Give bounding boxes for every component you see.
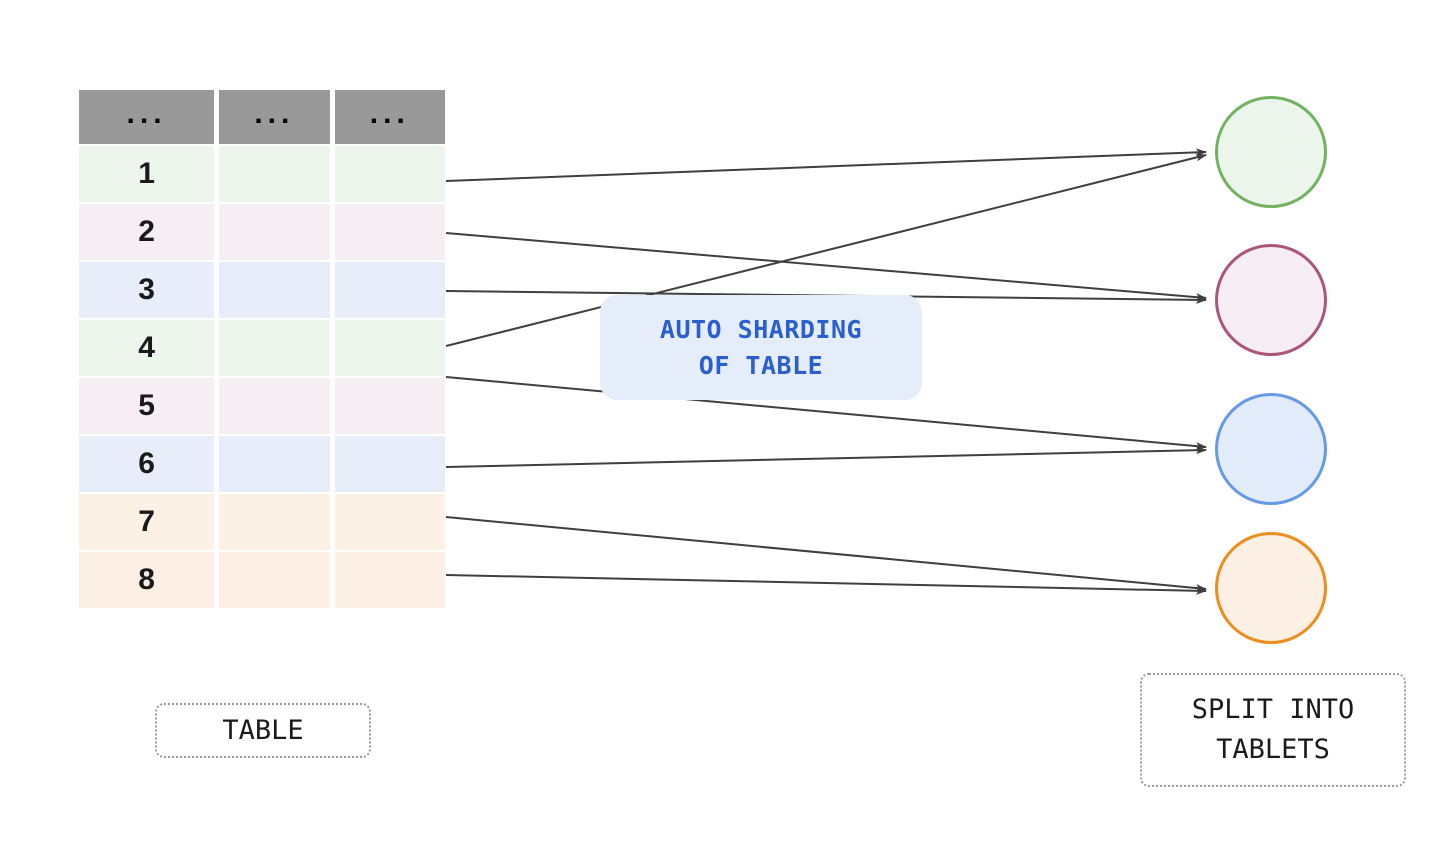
table-cell — [335, 378, 445, 434]
table-cell-row-number: 6 — [79, 436, 214, 492]
table-row: 1 — [79, 146, 445, 202]
table-grid: ... ... ... 12345678 — [79, 90, 445, 608]
table-row: 7 — [79, 494, 445, 550]
table-cell — [335, 436, 445, 492]
table-header-cell: ... — [219, 90, 329, 144]
tablets-caption-label: SPLIT INTO TABLETS — [1192, 690, 1355, 771]
connection-arrow-row-8-to-orange — [446, 575, 1206, 591]
table-cell — [219, 378, 329, 434]
table-cell — [219, 262, 329, 318]
table-row: 3 — [79, 262, 445, 318]
table-cell — [335, 204, 445, 260]
table-cell — [335, 262, 445, 318]
table-cell — [335, 552, 445, 608]
row-number-label: 3 — [138, 275, 155, 305]
table-row: 4 — [79, 320, 445, 376]
table-row: 2 — [79, 204, 445, 260]
header-ellipsis-label: ... — [127, 99, 167, 129]
table-cell — [219, 436, 329, 492]
table-cell-row-number: 1 — [79, 146, 214, 202]
table-cell-row-number: 7 — [79, 494, 214, 550]
table-row: 5 — [79, 378, 445, 434]
table-cell — [219, 146, 329, 202]
connection-arrow-row-1-to-green — [446, 152, 1206, 181]
tablet-circle-orange — [1215, 532, 1327, 644]
table-header-cell: ... — [79, 90, 214, 144]
table-cell — [219, 320, 329, 376]
connection-arrow-row-7-to-orange — [446, 517, 1206, 589]
auto-sharding-callout: AUTO SHARDING OF TABLE — [600, 295, 922, 400]
table-cell-row-number: 5 — [79, 378, 214, 434]
header-ellipsis-label: ... — [254, 99, 294, 129]
table-cell — [219, 552, 329, 608]
table-caption: TABLE — [155, 703, 371, 758]
connection-arrow-row-2-to-pink — [446, 233, 1206, 298]
auto-sharding-callout-label: AUTO SHARDING OF TABLE — [660, 312, 862, 383]
row-number-label: 1 — [138, 159, 155, 189]
tablet-circle-pink — [1215, 244, 1327, 356]
table-cell-row-number: 3 — [79, 262, 214, 318]
connection-arrow-row-6-to-blue — [446, 450, 1206, 467]
tablet-circle-green — [1215, 96, 1327, 208]
table-cell-row-number: 2 — [79, 204, 214, 260]
table-row: 8 — [79, 552, 445, 608]
table-header-cell: ... — [335, 90, 445, 144]
table-cell-row-number: 8 — [79, 552, 214, 608]
row-number-label: 5 — [138, 391, 155, 421]
table-cell — [219, 204, 329, 260]
tablets-caption: SPLIT INTO TABLETS — [1140, 673, 1406, 787]
header-ellipsis-label: ... — [370, 99, 410, 129]
table-cell — [219, 494, 329, 550]
tablet-circle-blue — [1215, 393, 1327, 505]
row-number-label: 6 — [138, 449, 155, 479]
table-row: 6 — [79, 436, 445, 492]
row-number-label: 8 — [138, 565, 155, 595]
table-cell — [335, 146, 445, 202]
table-cell — [335, 494, 445, 550]
row-number-label: 4 — [138, 333, 155, 363]
row-number-label: 2 — [138, 217, 155, 247]
diagram-canvas: ... ... ... 12345678 AUTO SHARDING OF TA… — [0, 0, 1444, 864]
source-table: ... ... ... 12345678 — [79, 90, 445, 608]
table-header-row: ... ... ... — [79, 90, 445, 144]
row-number-label: 7 — [138, 507, 155, 537]
table-caption-label: TABLE — [222, 713, 303, 748]
table-cell-row-number: 4 — [79, 320, 214, 376]
table-cell — [335, 320, 445, 376]
